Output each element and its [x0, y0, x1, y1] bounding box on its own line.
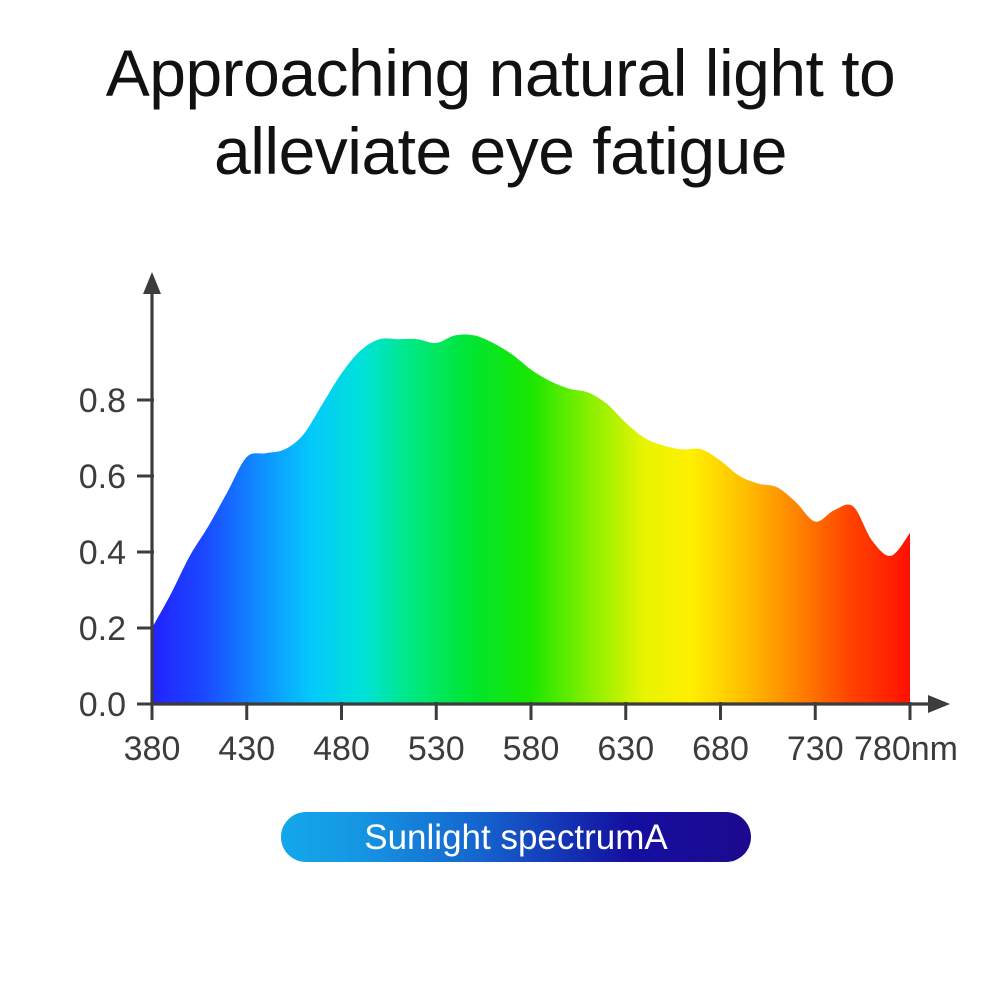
- y-tick-label: 0.6: [79, 458, 126, 496]
- page-title: Approaching natural light to alleviate e…: [0, 34, 1001, 190]
- x-axis: 380430480530580630680730780nm: [124, 695, 958, 768]
- x-tick-label: 580: [503, 730, 560, 768]
- x-tick-label: 730: [787, 730, 844, 768]
- y-tick-label: 0.4: [79, 534, 126, 572]
- y-tick-label: 0.8: [79, 382, 126, 420]
- x-tick-label: 380: [124, 730, 181, 768]
- y-axis: 0.00.20.40.60.8: [79, 272, 161, 724]
- y-tick-label: 0.2: [79, 610, 126, 648]
- x-tick-label: 430: [218, 730, 275, 768]
- x-tick-label: 630: [597, 730, 654, 768]
- x-tick-labels: 380430480530580630680730780nm: [124, 730, 958, 768]
- spectrum-area-path: [152, 334, 910, 704]
- spectrum-chart-svg: 0.00.20.40.60.8 380430480530580630680730…: [0, 250, 1001, 790]
- x-axis-arrow-icon: [928, 695, 950, 713]
- x-tick-label: 480: [313, 730, 370, 768]
- y-tick-labels: 0.00.20.40.60.8: [79, 382, 126, 724]
- legend-label: Sunlight spectrumA: [364, 820, 667, 855]
- y-axis-arrow-icon: [143, 272, 161, 294]
- page-title-line-1: Approaching natural light to: [0, 34, 1001, 112]
- spectrum-chart: 0.00.20.40.60.8 380430480530580630680730…: [0, 250, 1001, 790]
- y-tick-label: 0.0: [79, 686, 126, 724]
- page-title-line-2: alleviate eye fatigue: [0, 112, 1001, 190]
- x-tick-label: 780nm: [854, 730, 958, 768]
- legend-sunlight-spectrum[interactable]: Sunlight spectrumA: [281, 812, 751, 862]
- x-tick-label: 530: [408, 730, 465, 768]
- x-tick-label: 680: [692, 730, 749, 768]
